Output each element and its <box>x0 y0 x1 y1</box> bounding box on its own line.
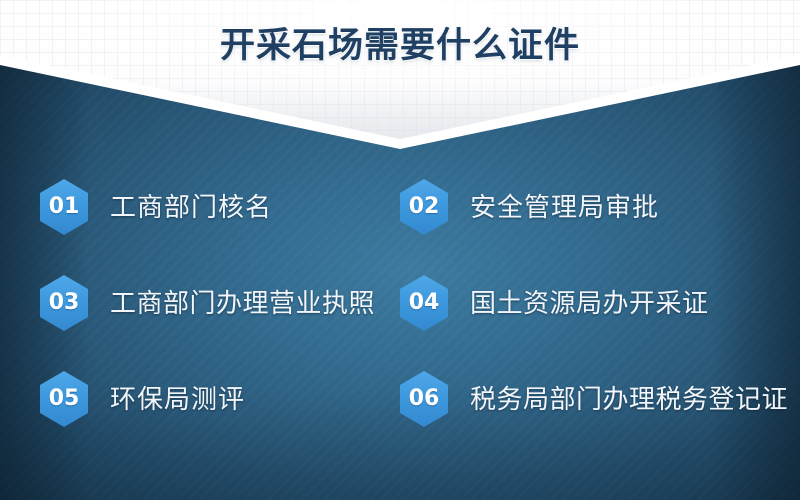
list-item-02[interactable]: 02 安全管理局审批 <box>400 176 659 238</box>
hexagon-badge-06: 06 <box>400 371 448 427</box>
item-label: 环保局测评 <box>110 386 245 412</box>
list-item-05[interactable]: 05 环保局测评 <box>40 368 245 430</box>
item-label: 工商部门办理营业执照 <box>110 290 375 316</box>
page-title: 开采石场需要什么证件 <box>0 17 800 68</box>
item-label: 安全管理局审批 <box>470 194 659 220</box>
badge-number: 04 <box>409 292 440 314</box>
list-item-01[interactable]: 01 工商部门核名 <box>40 176 272 238</box>
badge-number: 02 <box>409 196 440 218</box>
item-label: 国土资源局办开采证 <box>470 290 709 316</box>
badge-number: 01 <box>49 196 80 218</box>
hexagon-badge-04: 04 <box>400 275 448 331</box>
item-grid: 01 工商部门核名 02 安全管理局审批 03 工商部门办理营业执照 04 国土… <box>0 176 800 444</box>
badge-number: 05 <box>49 388 80 410</box>
hexagon-badge-02: 02 <box>400 179 448 235</box>
hexagon-badge-01: 01 <box>40 179 88 235</box>
item-label: 工商部门核名 <box>110 194 272 220</box>
list-item-03[interactable]: 03 工商部门办理营业执照 <box>40 272 375 334</box>
badge-number: 06 <box>409 388 440 410</box>
list-item-06[interactable]: 06 税务局部门办理税务登记证 <box>400 368 788 430</box>
hexagon-badge-03: 03 <box>40 275 88 331</box>
list-item-04[interactable]: 04 国土资源局办开采证 <box>400 272 709 334</box>
poster-infographic: 开采石场需要什么证件 01 工商部门核名 02 安全管理局审批 03 工商部门办… <box>0 0 800 500</box>
hexagon-badge-05: 05 <box>40 371 88 427</box>
badge-number: 03 <box>49 292 80 314</box>
item-label: 税务局部门办理税务登记证 <box>470 386 788 412</box>
